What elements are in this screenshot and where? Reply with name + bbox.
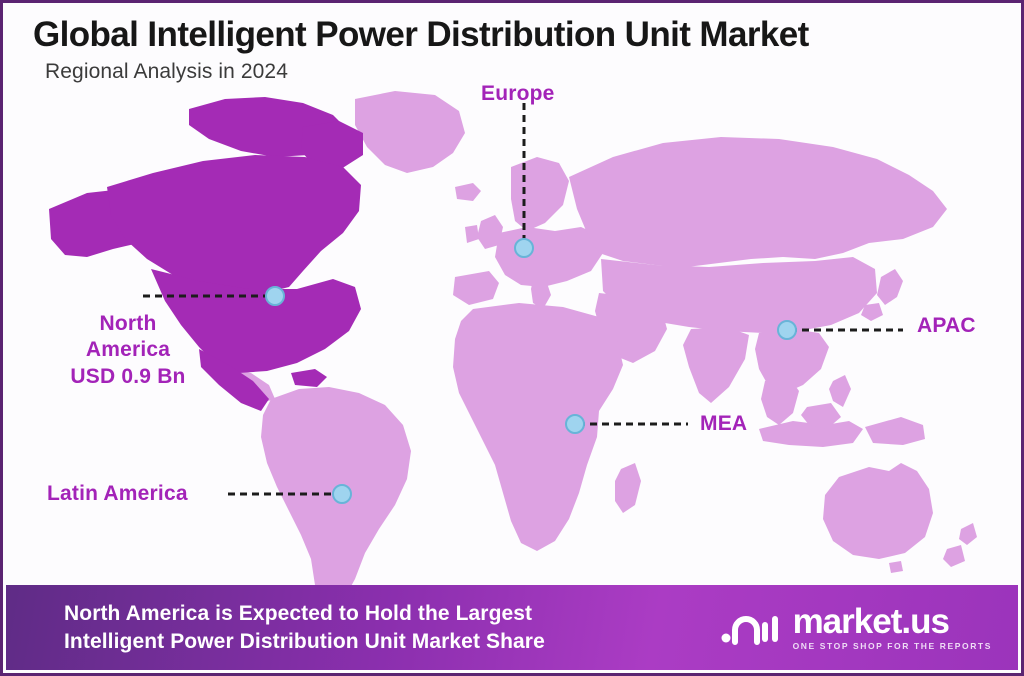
landmass-philippines (829, 375, 851, 407)
logo-tagline: ONE STOP SHOP FOR THE REPORTS (793, 642, 992, 651)
landmass-russia (569, 137, 947, 267)
marker-europe[interactable] (515, 239, 533, 257)
landmass-new-guinea (865, 417, 925, 445)
landmass-india (683, 327, 749, 403)
landmass-africa (453, 303, 623, 551)
region-label-north-america: North America (67, 311, 189, 364)
marker-apac[interactable] (778, 321, 796, 339)
region-label-apac[interactable]: APAC (917, 313, 976, 339)
landmass-madagascar (615, 463, 641, 513)
landmass-europe (495, 227, 603, 287)
landmass-japan (877, 269, 903, 305)
region-label-europe[interactable]: Europe (481, 81, 555, 107)
region-value-north-america: USD 0.9 Bn (67, 364, 189, 390)
landmass-indochina (761, 377, 799, 425)
header: Global Intelligent Power Distribution Un… (33, 17, 1013, 84)
footer-headline-line1: North America is Expected to Hold the La… (64, 600, 545, 628)
logo-name: market.us (793, 604, 992, 639)
footer-headline-line2: Intelligent Power Distribution Unit Mark… (64, 628, 545, 656)
logo-wordmark: market.us ONE STOP SHOP FOR THE REPORTS (793, 604, 992, 651)
footer-banner: North America is Expected to Hold the La… (6, 585, 1018, 670)
landmass-ireland (465, 225, 479, 243)
market-infographic: Global Intelligent Power Distribution Un… (0, 0, 1024, 676)
landmass-iceland (455, 183, 481, 201)
marker-latin-america[interactable] (333, 485, 351, 503)
landmass-canada (107, 155, 361, 293)
region-label-mea[interactable]: MEA (700, 411, 747, 437)
logo-mark-icon (721, 608, 783, 648)
landmass-caribbean (291, 369, 327, 387)
landmass-tasmania (889, 561, 903, 573)
landmass-scandinavia (511, 157, 569, 231)
landmass-new-zealand (959, 523, 977, 545)
region-label-latin-america[interactable]: Latin America (47, 481, 188, 507)
region-callout-north-america[interactable]: North America USD 0.9 Bn (67, 311, 189, 390)
marker-north-america[interactable] (266, 287, 284, 305)
landmass-greenland (355, 91, 465, 173)
landmass-iberia (453, 271, 499, 305)
marker-mea[interactable] (566, 415, 584, 433)
footer-headline: North America is Expected to Hold the La… (64, 600, 545, 655)
landmass-australia (823, 463, 933, 559)
landmass-new-zealand-south (943, 545, 965, 567)
market-us-logo[interactable]: market.us ONE STOP SHOP FOR THE REPORTS (721, 604, 992, 651)
page-title: Global Intelligent Power Distribution Un… (33, 17, 1013, 54)
